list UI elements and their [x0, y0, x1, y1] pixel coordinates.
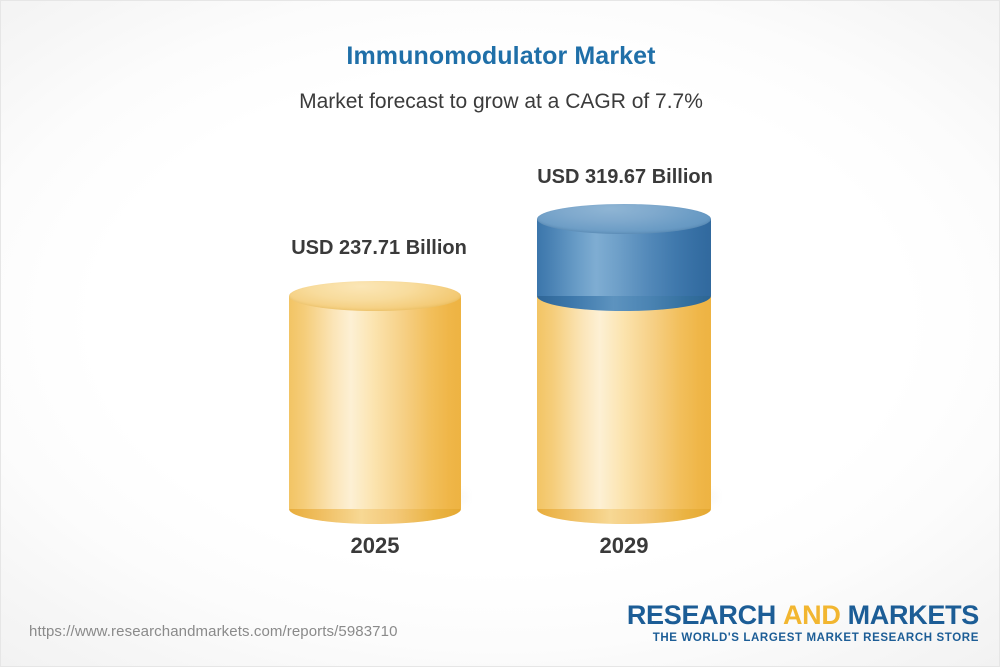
- page-title: Immunomodulator Market: [1, 42, 1000, 71]
- cylinder-top-cap: [537, 204, 711, 234]
- chart-subtitle: Market forecast to grow at a CAGR of 7.7…: [1, 90, 1000, 114]
- axis-label-2025: 2025: [289, 533, 461, 559]
- research-and-markets-logo[interactable]: RESEARCHANDMARKETS THE WORLD'S LARGEST M…: [627, 601, 979, 644]
- logo-word-research: RESEARCH: [627, 600, 776, 630]
- cylinder-body: [537, 296, 711, 509]
- bar-segment-base-2025: [289, 296, 461, 509]
- logo-word-and: AND: [783, 600, 841, 630]
- cylinder-top-cap: [289, 281, 461, 311]
- bar-segment-growth-2029: [537, 219, 711, 296]
- logo-tagline: THE WORLD'S LARGEST MARKET RESEARCH STOR…: [627, 632, 979, 644]
- cylinder-body: [289, 296, 461, 509]
- axis-label-2029: 2029: [537, 533, 711, 559]
- bar-cylinder-2025: [289, 281, 461, 509]
- logo-wordmark: RESEARCHANDMARKETS: [627, 601, 979, 629]
- bar-value-label-2025: USD 237.71 Billion: [274, 237, 484, 260]
- bar-value-label-2029: USD 319.67 Billion: [519, 166, 731, 189]
- bar-segment-base-2029: [537, 296, 711, 509]
- logo-word-markets: MARKETS: [848, 600, 979, 630]
- report-url[interactable]: https://www.researchandmarkets.com/repor…: [29, 623, 398, 640]
- chart-canvas: Immunomodulator Market Market forecast t…: [0, 0, 1000, 667]
- bar-cylinder-2029: [537, 204, 711, 509]
